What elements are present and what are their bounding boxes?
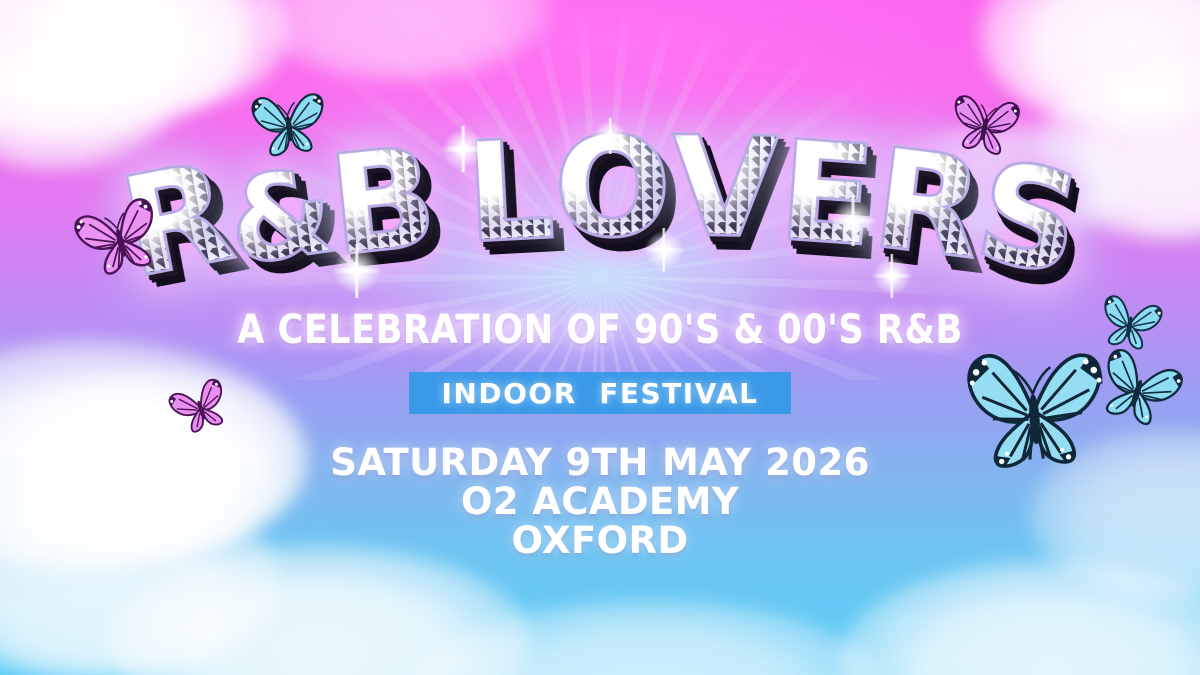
event-title: R & B L O V E R S <box>0 86 1200 301</box>
indoor-festival-banner: INDOOR FESTIVAL <box>409 372 791 414</box>
title-letter: & <box>222 155 337 279</box>
title-arc: R & B L O V E R S <box>131 129 1069 259</box>
banner-label: INDOOR FESTIVAL <box>442 377 759 410</box>
event-venue: O2 ACADEMY <box>0 482 1200 521</box>
event-details: SATURDAY 9TH MAY 2026 O2 ACADEMY OXFORD <box>0 443 1200 561</box>
title-letter: B <box>324 132 440 272</box>
title-letter: R <box>867 133 986 274</box>
event-date: SATURDAY 9TH MAY 2026 <box>0 443 1200 482</box>
title-letter: V <box>671 122 778 254</box>
title-letter: R <box>112 147 239 294</box>
event-poster: R & B L O V E R S A CELEBRATION OF 90'S … <box>0 0 1200 675</box>
title-letter: L <box>462 125 555 259</box>
event-subtitle: A CELEBRATION OF 90'S & 00'S R&B <box>72 307 1128 353</box>
title-letter: E <box>775 126 876 262</box>
event-city: OXFORD <box>0 521 1200 560</box>
title-letter: O <box>553 122 671 254</box>
title-letter: S <box>968 146 1086 291</box>
